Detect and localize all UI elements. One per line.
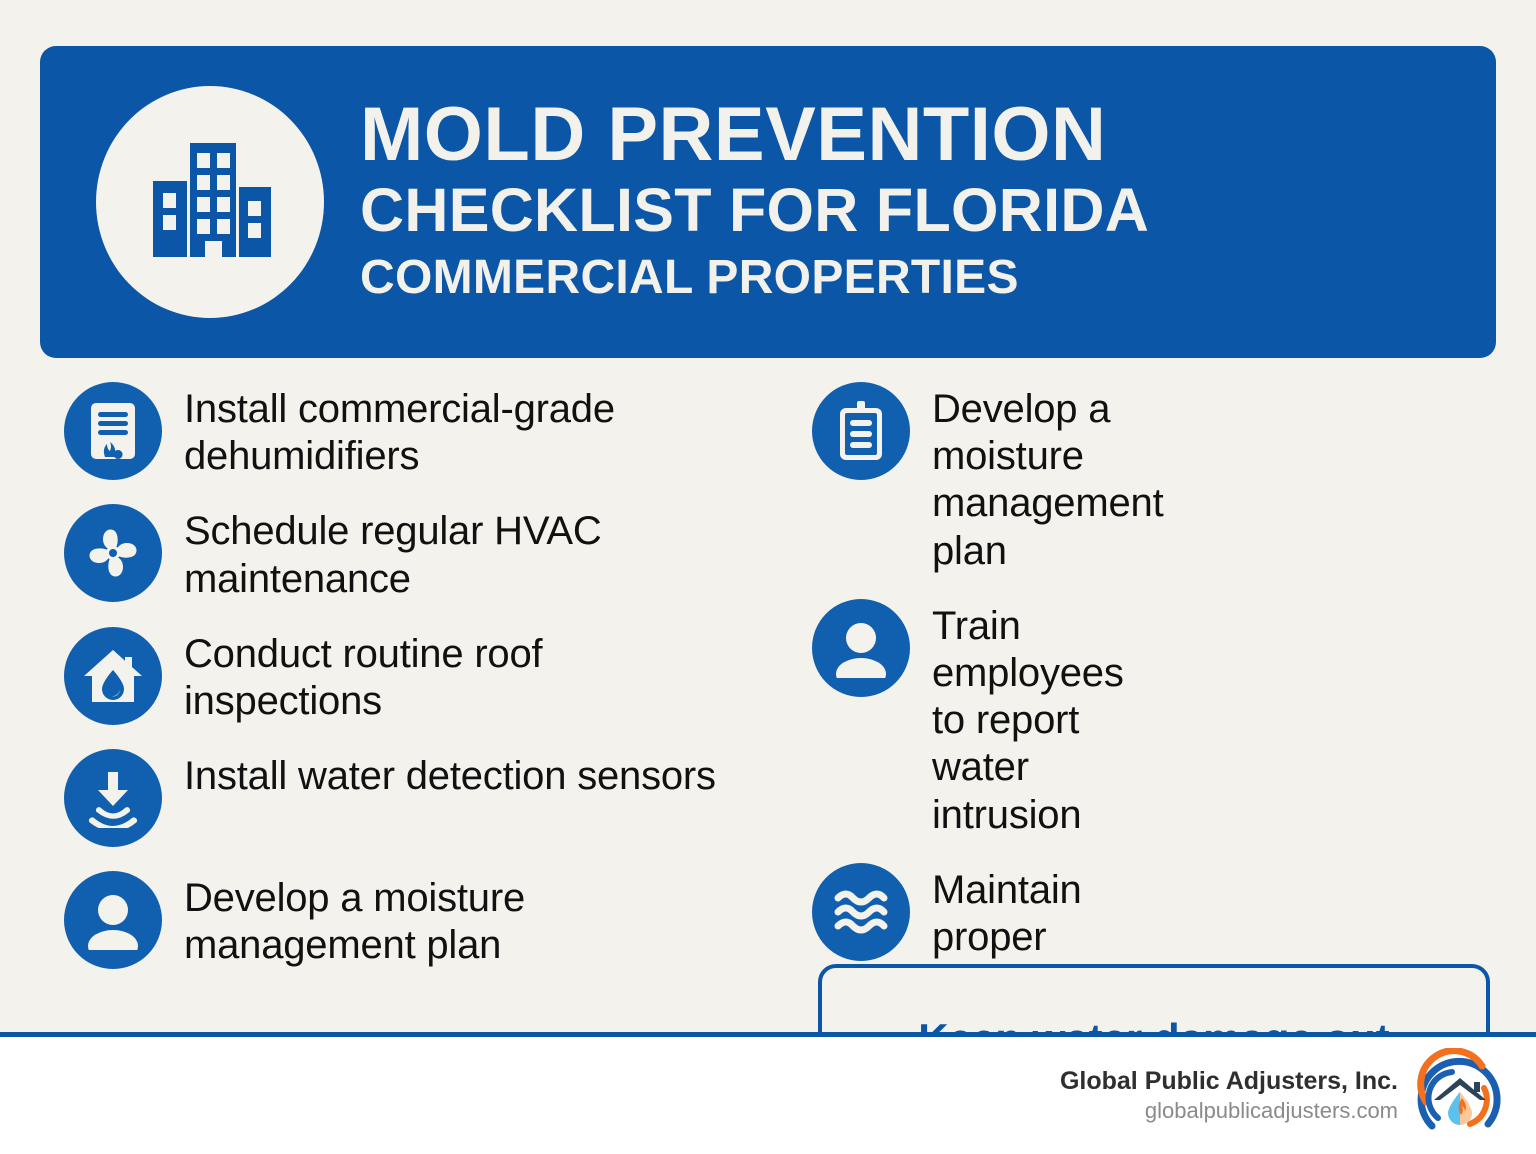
poster-title-line-1: MOLD PREVENTION [360,98,1496,172]
checklist-right-column: Develop a moisture management plan Train… [0,382,832,1036]
person-icon [812,599,910,697]
footer-text-block: Global Public Adjusters, Inc. globalpubl… [1060,1066,1398,1126]
office-buildings-icon [135,125,285,280]
poster-title-line-2: CHECKLIST FOR FLORIDA [360,173,1496,247]
header-badge [96,86,324,318]
clipboard-icon [812,382,910,480]
header-title-block: MOLD PREVENTION CHECKLIST FOR FLORIDA CO… [360,94,1496,309]
header-banner: MOLD PREVENTION CHECKLIST FOR FLORIDA CO… [40,46,1496,358]
cta-card: Keep water damage out [818,964,1490,1036]
ventilation-waves-icon [812,863,910,961]
roof-flame-droplet-logo [1412,1048,1508,1144]
poster-canvas: MOLD PREVENTION CHECKLIST FOR FLORIDA CO… [0,0,1536,1036]
infographic-poster: MOLD PREVENTION CHECKLIST FOR FLORIDA CO… [0,0,1536,1154]
poster-title-line-3: COMMERCIAL PROPERTIES [360,247,1496,309]
list-item-label: Train employees to report water intrusio… [932,599,1124,839]
footer-company-name: Global Public Adjusters, Inc. [1060,1066,1398,1097]
footer-website-url[interactable]: globalpublicadjusters.com [1060,1097,1398,1126]
checklist-columns: Install commercial-grade dehumidifiers [0,382,1536,1036]
footer-bar: Global Public Adjusters, Inc. globalpubl… [0,1037,1536,1154]
list-item-label: Develop a moisture management plan [932,382,1163,575]
